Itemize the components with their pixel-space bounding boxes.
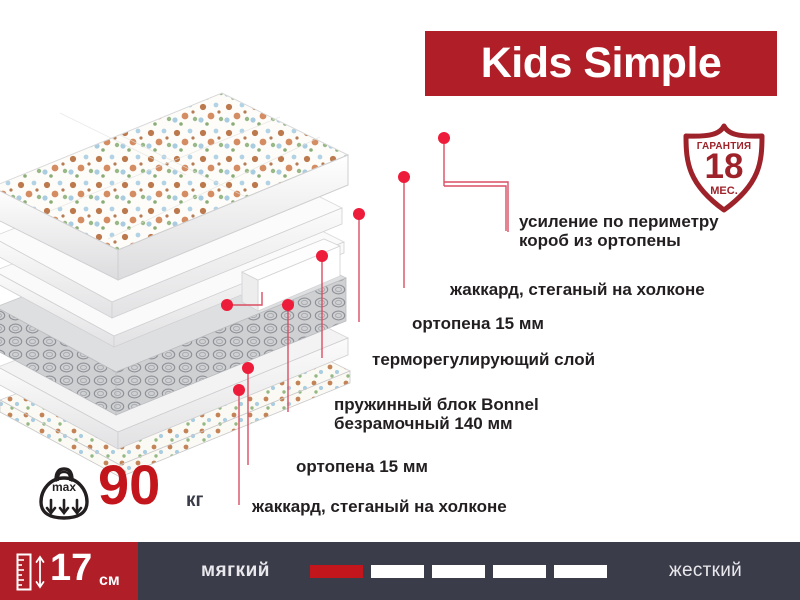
firmness-scale[interactable] (310, 565, 607, 578)
callout-foam-top: ортопена 15 мм (412, 314, 544, 333)
callout-bonnel: пружинный блок Bonnel безрамочный 140 мм (334, 396, 539, 433)
callout-perimeter-line2: короб из ортопены (519, 232, 719, 251)
ruler-icon (16, 553, 50, 596)
max-weight-unit: кг (186, 490, 203, 512)
firmness-hard-label: жесткий (669, 560, 742, 582)
kettlebell-icon: max (36, 464, 92, 527)
warranty-number: 18 (676, 149, 772, 184)
warranty-unit: МЕС. (676, 185, 772, 197)
firmness-segment-3[interactable] (432, 565, 485, 578)
bottom-spec-bar: 17 см мягкий жесткий (0, 542, 800, 600)
mattress-illustration (0, 75, 440, 505)
firmness-segment-5[interactable] (554, 565, 607, 578)
firmness-soft-label: мягкий (201, 560, 270, 582)
callout-bonnel-line1: пружинный блок Bonnel (334, 396, 539, 415)
callout-perimeter-line1: усиление по периметру (519, 213, 719, 232)
page-title: Kids Simple (481, 42, 722, 85)
firmness-segment-4[interactable] (493, 565, 546, 578)
callout-bonnel-line2: безрамочный 140 мм (334, 415, 539, 434)
callout-perimeter: усиление по периметру короб из ортопены (519, 213, 719, 250)
max-label: max (36, 480, 92, 494)
height-value: 17 (50, 549, 92, 587)
firmness-segment-1[interactable] (310, 565, 363, 578)
max-weight-value: 90 (98, 457, 160, 513)
firmness-segment-2[interactable] (371, 565, 424, 578)
height-panel: 17 см (0, 542, 138, 600)
callout-jacquard-top: жаккард, стеганый на холконе (450, 280, 705, 299)
callout-jacquard-bottom: жаккард, стеганый на холконе (252, 497, 507, 516)
max-weight-block: max 90 кг (36, 462, 236, 524)
height-unit: см (99, 572, 120, 590)
product-title-banner: Kids Simple (425, 31, 777, 96)
callout-thermo: терморегулирующий слой (372, 350, 595, 369)
callout-foam-bottom: ортопена 15 мм (296, 457, 428, 476)
infographic-canvas: Kids Simple ГАРАНТИЯ 18 МЕС. усиление по… (0, 0, 800, 600)
warranty-badge: ГАРАНТИЯ 18 МЕС. (676, 122, 772, 214)
